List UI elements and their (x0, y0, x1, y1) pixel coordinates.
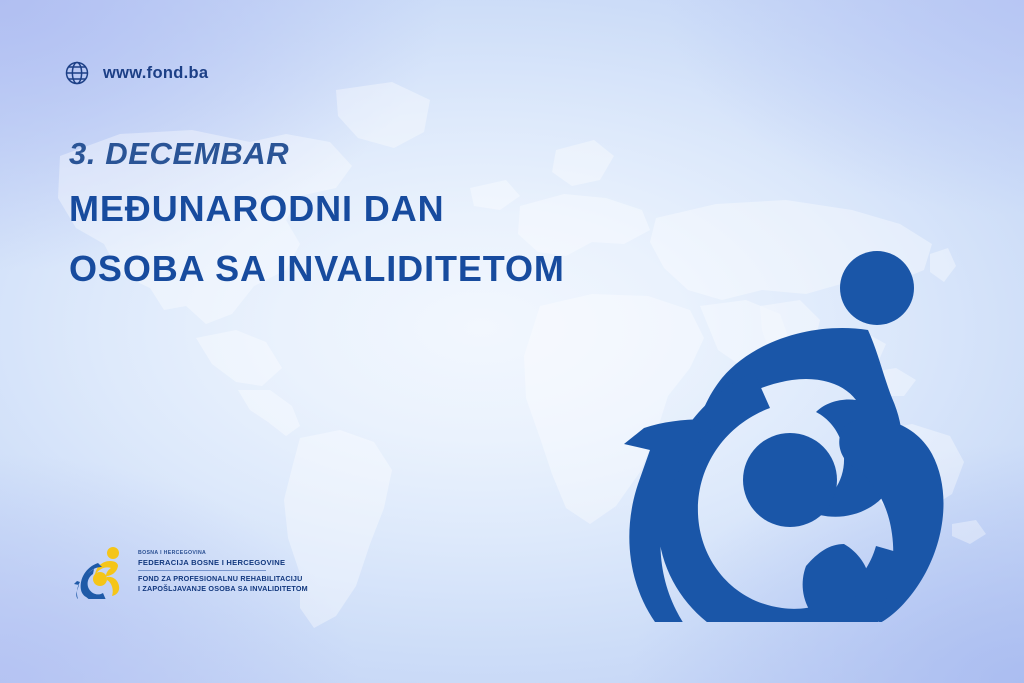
org-country-line: BOSNA I HERCEGOVINA (138, 550, 308, 557)
organisation-logo: BOSNA I HERCEGOVINA FEDERACIJA BOSNE I H… (74, 543, 308, 599)
date-kicker: 3. DECEMBAR (69, 138, 709, 169)
website-row[interactable]: www.fond.ba (64, 60, 208, 86)
organisation-text-block: BOSNA I HERCEGOVINA FEDERACIJA BOSNE I H… (138, 548, 308, 594)
poster-canvas: www.fond.ba 3. DECEMBAR MEĐUNARODNI DAN … (0, 0, 1024, 683)
org-fund-line-2: I ZAPOŠLJAVANJE OSOBA SA INVALIDITETOM (138, 584, 308, 593)
globe-icon (64, 60, 90, 86)
fond-logo-mark-icon (74, 543, 130, 599)
org-divider (138, 570, 266, 571)
website-url-text[interactable]: www.fond.ba (103, 64, 208, 83)
accessibility-wheelchair-emblem-icon (606, 222, 976, 622)
org-federation-line: FEDERACIJA BOSNE I HERCEGOVINE (138, 558, 308, 567)
org-fund-line-1: FOND ZA PROFESIONALNU REHABILITACIJU (138, 574, 308, 583)
